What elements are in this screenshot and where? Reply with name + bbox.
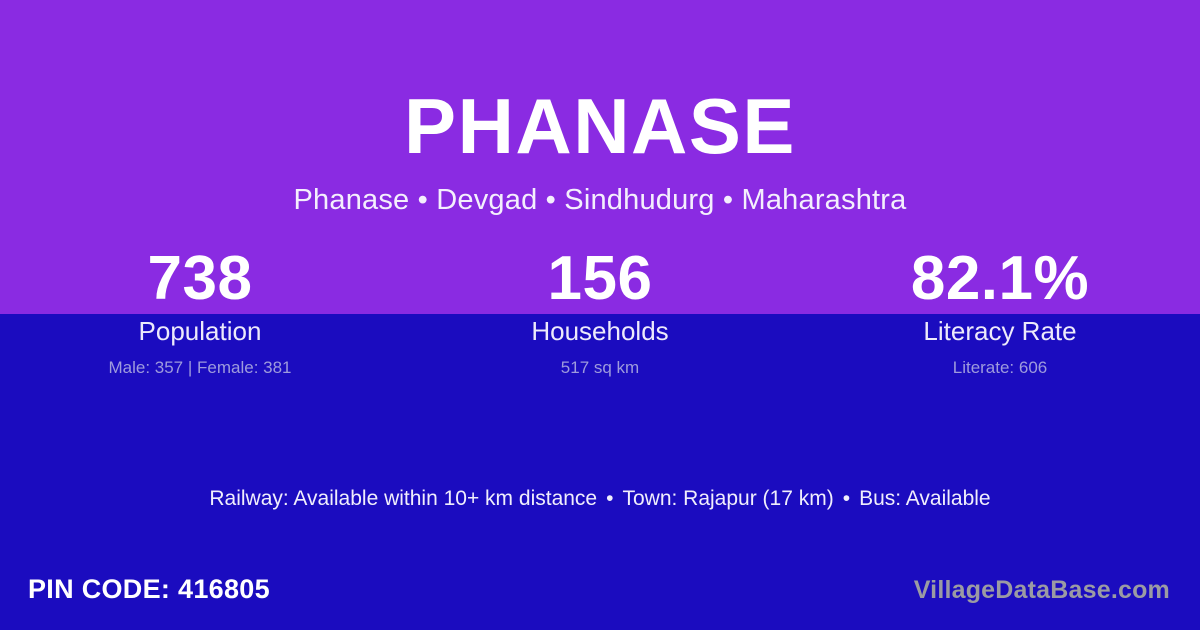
facility-bus: Bus: Available xyxy=(859,487,991,510)
stat-households-sub: 517 sq km xyxy=(400,356,800,380)
stat-literacy-rate-sub: Literate: 606 xyxy=(800,356,1200,380)
facility-separator-1: • xyxy=(597,484,622,514)
stat-households: 156 Households 517 sq km xyxy=(400,246,800,386)
facility-railway: Railway: Available within 10+ km distanc… xyxy=(209,487,597,510)
facilities-line: Railway: Available within 10+ km distanc… xyxy=(0,484,1200,514)
facility-separator-2: • xyxy=(834,484,859,514)
pin-code: PIN CODE: 416805 xyxy=(28,572,270,606)
stat-literacy-rate-value: 82.1% xyxy=(800,246,1200,312)
stat-population-label: Population xyxy=(0,314,400,348)
breadcrumb: Phanase • Devgad • Sindhudurg • Maharash… xyxy=(0,182,1200,218)
footer: PIN CODE: 416805 VillageDataBase.com xyxy=(0,560,1200,630)
stat-population-value: 738 xyxy=(0,246,400,312)
stat-literacy-rate-label: Literacy Rate xyxy=(800,314,1200,348)
stats-row: 738 Population Male: 357 | Female: 381 1… xyxy=(0,246,1200,386)
facility-town: Town: Rajapur (17 km) xyxy=(622,487,833,510)
stat-literacy-rate: 82.1% Literacy Rate Literate: 606 xyxy=(800,246,1200,386)
page-title: PHANASE xyxy=(0,82,1200,170)
village-info-card: PHANASE Phanase • Devgad • Sindhudurg • … xyxy=(0,0,1200,630)
stat-households-value: 156 xyxy=(400,246,800,312)
brand-watermark: VillageDataBase.com xyxy=(914,574,1170,606)
stat-population-sub: Male: 357 | Female: 381 xyxy=(0,356,400,380)
stat-population: 738 Population Male: 357 | Female: 381 xyxy=(0,246,400,386)
stat-households-label: Households xyxy=(400,314,800,348)
